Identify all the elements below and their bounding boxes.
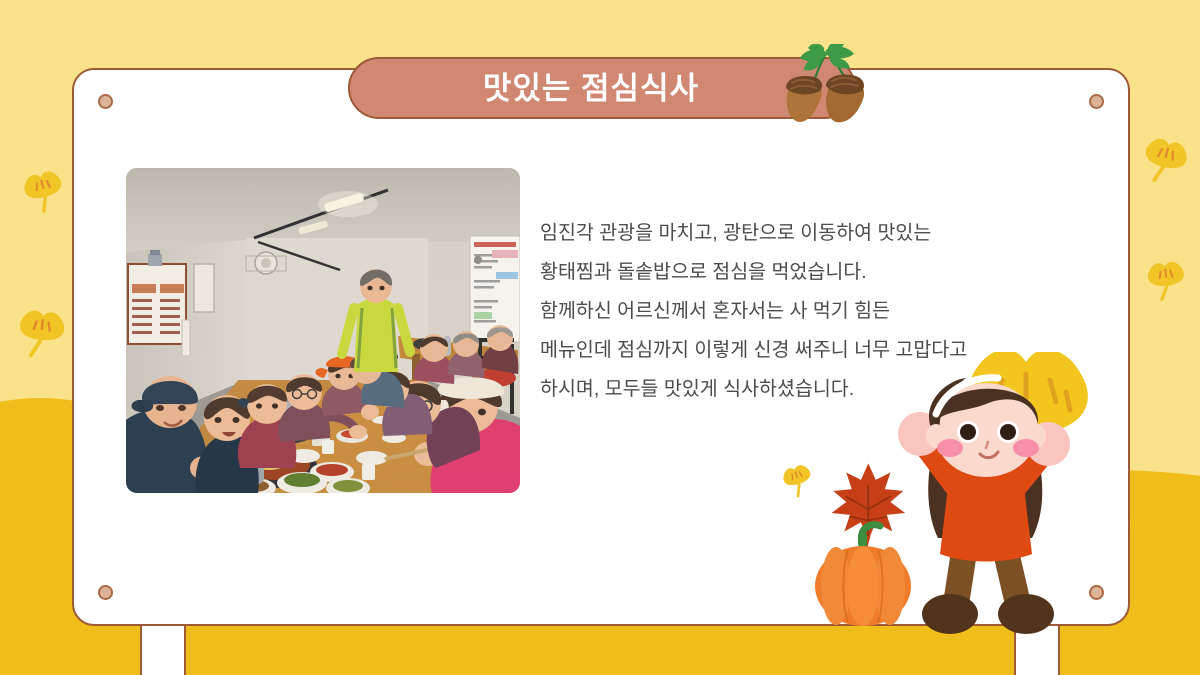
slide-canvas: 맛있는 점심식사 bbox=[0, 0, 1200, 675]
ginkgo-leaf-right-top-icon bbox=[1130, 120, 1200, 193]
pumpkin-icon bbox=[815, 525, 911, 626]
acorn-left bbox=[786, 76, 822, 122]
screw-top-left bbox=[98, 94, 113, 109]
ginkgo-leaf-left-bottom-icon bbox=[7, 293, 77, 363]
card-leg-left bbox=[140, 624, 186, 675]
screw-bottom-left bbox=[98, 585, 113, 600]
acorn-cluster-icon bbox=[772, 44, 882, 132]
body-line-2: 황태찜과 돌솥밥으로 점심을 먹었습니다. bbox=[540, 253, 1088, 292]
ginkgo-leaf-left-top-icon bbox=[10, 154, 75, 219]
small-ginkgo-leaf-icon bbox=[781, 463, 816, 499]
screw-top-right bbox=[1089, 94, 1104, 109]
autumn-illustration bbox=[760, 352, 1100, 637]
maple-leaf-icon bbox=[832, 463, 906, 557]
body-line-3: 함께하신 어르신께서 혼자서는 사 먹기 힘든 bbox=[540, 292, 1088, 331]
lunch-photo bbox=[126, 168, 520, 493]
body-line-1: 임진각 관광을 마치고, 광탄으로 이동하여 맛있는 bbox=[540, 214, 1088, 253]
ginkgo-leaf-right-bottom-icon bbox=[1137, 247, 1194, 304]
page-title: 맛있는 점심식사 bbox=[483, 73, 721, 104]
acorn-right bbox=[826, 74, 864, 122]
